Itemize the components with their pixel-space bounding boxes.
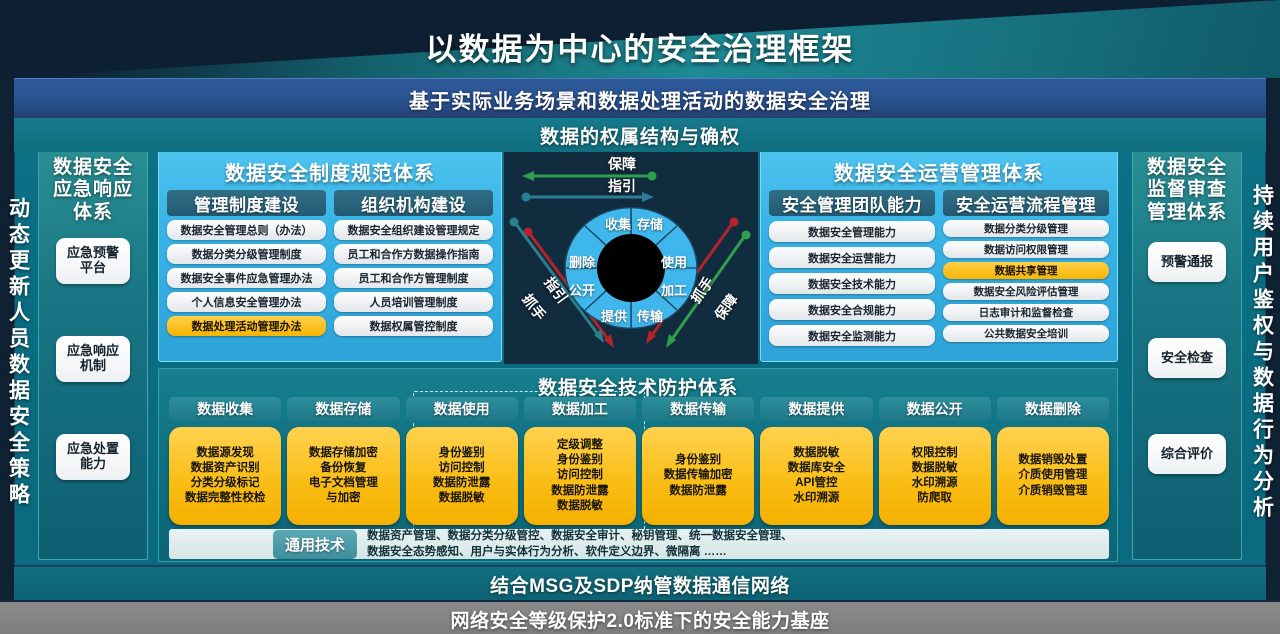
right-vertical-label: 持续用户鉴权与数据行为分析 <box>1252 184 1273 522</box>
operation-column-process: 安全运营流程管理 数据分类分级管理 数据访问权限管理 数据共享管理 数据安全风险… <box>943 190 1109 346</box>
operation-column-process-head: 安全运营流程管理 <box>943 190 1109 216</box>
wheel-segment-provide[interactable]: 提供 <box>601 306 627 325</box>
policy-column-management-head: 管理制度建设 <box>167 190 326 216</box>
tech-column-body[interactable]: 身份鉴别 访问控制 数据防泄露 数据脱敏 <box>406 427 518 525</box>
policy-item[interactable]: 数据安全组织建设管理规定 <box>334 220 493 240</box>
tech-protection-band: 数据安全技术防护体系 数据收集 数据源发现 数据资产识别 分类分级标记 数据完整… <box>158 368 1118 562</box>
tech-column-head: 数据使用 <box>406 397 518 421</box>
footer-bar-2-label: 网络安全等级保护2.0标准下的安全能力基座 <box>451 606 830 633</box>
wheel-segment-publish[interactable]: 公开 <box>569 280 595 299</box>
operation-column-team-head: 安全管理团队能力 <box>769 190 935 216</box>
footer-bar-1: 结合MSG及SDP纳管数据通信网络 <box>14 566 1266 601</box>
supervision-title: 数据安全 监督审查 管理体系 <box>1133 147 1241 224</box>
operation-system-title: 数据安全运营管理体系 <box>761 151 1117 186</box>
policy-item[interactable]: 数据分类分级管理制度 <box>167 244 326 264</box>
supervision-item-comprehensive-evaluation[interactable]: 综合评价 <box>1148 434 1226 474</box>
tech-column-use[interactable]: 数据使用 身份鉴别 访问控制 数据防泄露 数据脱敏 <box>406 397 518 525</box>
operation-item[interactable]: 数据分类分级管理 <box>943 220 1109 237</box>
operation-item[interactable]: 数据安全运营能力 <box>769 247 935 268</box>
policy-item[interactable]: 数据权属管控制度 <box>334 316 493 336</box>
tech-column-head: 数据存储 <box>287 397 399 421</box>
tech-column-head: 数据传输 <box>642 397 754 421</box>
supervision-item-security-inspection[interactable]: 安全检查 <box>1148 338 1226 378</box>
tech-column-publish[interactable]: 数据公开 权限控制 数据脱敏 水印溯源 防爬取 <box>879 397 991 525</box>
subtitle-bar-1: 基于实际业务场景和数据处理活动的数据安全治理 <box>14 78 1266 119</box>
wheel-label-top-guarantee: 保障 <box>608 154 636 174</box>
policy-column-organization: 组织机构建设 数据安全组织建设管理规定 员工和合作方数据操作指南 员工和合作方管… <box>334 190 493 336</box>
wheel-label-top-guidance: 指引 <box>608 176 636 196</box>
emergency-item-handling-capability[interactable]: 应急处置 能力 <box>56 434 130 480</box>
tech-column-body[interactable]: 定级调整 身份鉴别 访问控制 数据防泄露 数据脱敏 <box>524 427 636 525</box>
wheel-segment-collect[interactable]: 收集 <box>605 214 631 233</box>
policy-column-organization-head: 组织机构建设 <box>334 190 493 216</box>
policy-system-title: 数据安全制度规范体系 <box>159 151 501 186</box>
wheel-segment-process[interactable]: 加工 <box>661 280 687 299</box>
policy-column-management: 管理制度建设 数据安全管理总则（办法） 数据分类分级管理制度 数据安全事件应急管… <box>167 190 326 336</box>
operation-item[interactable]: 数据安全监测能力 <box>769 325 935 346</box>
tech-column-process[interactable]: 数据加工 定级调整 身份鉴别 访问控制 数据防泄露 数据脱敏 <box>524 397 636 525</box>
tech-column-provide[interactable]: 数据提供 数据脱敏 数据库安全 API管控 水印溯源 <box>760 397 872 525</box>
emergency-response-column[interactable]: 数据安全 应急响应 体系 应急预警 平台 应急响应 机制 应急处置 能力 <box>38 146 148 560</box>
policy-item[interactable]: 数据安全事件应急管理办法 <box>167 268 326 288</box>
subtitle-bar-1-label: 基于实际业务场景和数据处理活动的数据安全治理 <box>409 85 871 114</box>
tech-column-head: 数据收集 <box>169 397 281 421</box>
tech-column-delete[interactable]: 数据删除 数据销毁处置 介质使用管理 介质销毁管理 <box>997 397 1109 525</box>
operation-item[interactable]: 数据安全技术能力 <box>769 273 935 294</box>
policy-item[interactable]: 人员培训管理制度 <box>334 292 493 312</box>
operation-item[interactable]: 数据安全合规能力 <box>769 299 935 320</box>
tech-column-head: 数据加工 <box>524 397 636 421</box>
framework-diagram: 以数据为中心的安全治理框架 基于实际业务场景和数据处理活动的数据安全治理 数据的… <box>0 0 1280 634</box>
left-vertical-strip: 动态更新人员数据安全策略 <box>3 144 33 562</box>
tech-column-collect[interactable]: 数据收集 数据源发现 数据资产识别 分类分级标记 数据完整性校检 <box>169 397 281 525</box>
tech-column-body[interactable]: 权限控制 数据脱敏 水印溯源 防爬取 <box>879 427 991 525</box>
operation-item-highlighted[interactable]: 数据共享管理 <box>943 262 1109 279</box>
footer-bar-1-label: 结合MSG及SDP纳管数据通信网络 <box>490 571 790 598</box>
wheel-segment-delete[interactable]: 删除 <box>569 252 595 271</box>
wheel-hub <box>597 234 665 302</box>
operation-item[interactable]: 公共数据安全培训 <box>943 325 1109 342</box>
tech-column-store[interactable]: 数据存储 数据存储加密 备份恢复 电子文档管理 与加密 <box>287 397 399 525</box>
left-vertical-label: 动态更新人员数据安全策略 <box>8 197 29 509</box>
policy-item[interactable]: 员工和合作方数据操作指南 <box>334 244 493 264</box>
page-title: 以数据为中心的安全治理框架 <box>0 24 1280 69</box>
subtitle-bar-2-label: 数据的权属结构与确权 <box>540 122 740 149</box>
policy-system-panel[interactable]: 数据安全制度规范体系 管理制度建设 数据安全管理总则（办法） 数据分类分级管理制… <box>158 150 502 362</box>
subtitle-bar-2: 数据的权属结构与确权 <box>14 118 1266 152</box>
operation-system-panel[interactable]: 数据安全运营管理体系 安全管理团队能力 数据安全管理能力 数据安全运营能力 数据… <box>760 150 1118 362</box>
tech-column-head: 数据公开 <box>879 397 991 421</box>
operation-item[interactable]: 日志审计和监督检查 <box>943 304 1109 321</box>
supervision-item-warning-notice[interactable]: 预警通报 <box>1148 242 1226 282</box>
emergency-item-warning-platform[interactable]: 应急预警 平台 <box>56 238 130 284</box>
policy-item[interactable]: 个人信息安全管理办法 <box>167 292 326 312</box>
general-technology-row: 通用技术 数据资产管理、数据分类分级管控、数据安全审计、秘钥管理、统一数据安全管… <box>169 529 1109 559</box>
tech-column-body[interactable]: 数据脱敏 数据库安全 API管控 水印溯源 <box>760 427 872 525</box>
right-vertical-strip: 持续用户鉴权与数据行为分析 <box>1247 144 1277 562</box>
policy-item-highlighted[interactable]: 数据处理活动管理办法 <box>167 316 326 336</box>
policy-item[interactable]: 员工和合作方管理制度 <box>334 268 493 288</box>
operation-item[interactable]: 数据访问权限管理 <box>943 241 1109 258</box>
tech-column-body[interactable]: 数据存储加密 备份恢复 电子文档管理 与加密 <box>287 427 399 525</box>
emergency-response-title: 数据安全 应急响应 体系 <box>39 147 147 224</box>
tech-column-body[interactable]: 数据销毁处置 介质使用管理 介质销毁管理 <box>997 427 1109 525</box>
general-technology-text: 数据资产管理、数据分类分级管控、数据安全审计、秘钥管理、统一数据安全管理、 数据… <box>367 528 793 560</box>
supervision-column[interactable]: 数据安全 监督审查 管理体系 预警通报 安全检查 综合评价 <box>1132 146 1242 560</box>
policy-item[interactable]: 数据安全管理总则（办法） <box>167 220 326 240</box>
footer-bar-2: 网络安全等级保护2.0标准下的安全能力基座 <box>0 600 1280 634</box>
lifecycle-wheel[interactable]: 收集 存储 使用 加工 传输 提供 公开 删除 <box>561 204 701 332</box>
general-technology-tag: 通用技术 <box>273 530 357 559</box>
tech-column-body[interactable]: 数据源发现 数据资产识别 分类分级标记 数据完整性校检 <box>169 427 281 525</box>
wheel-segment-use[interactable]: 使用 <box>661 252 687 271</box>
data-lifecycle-wheel-area: 保障 指引 指引 抓手 抓手 保障 收集 存储 使用 <box>504 152 758 364</box>
emergency-item-response-mechanism[interactable]: 应急响应 机制 <box>56 336 130 382</box>
tech-column-head: 数据提供 <box>760 397 872 421</box>
wheel-segment-transmit[interactable]: 传输 <box>637 306 663 325</box>
tech-column-head: 数据删除 <box>997 397 1109 421</box>
wheel-segment-store[interactable]: 存储 <box>637 214 663 233</box>
operation-item[interactable]: 数据安全风险评估管理 <box>943 283 1109 300</box>
tech-column-body[interactable]: 身份鉴别 数据传输加密 数据防泄露 <box>642 427 754 525</box>
tech-column-transmit[interactable]: 数据传输 身份鉴别 数据传输加密 数据防泄露 <box>642 397 754 525</box>
operation-column-team: 安全管理团队能力 数据安全管理能力 数据安全运营能力 数据安全技术能力 数据安全… <box>769 190 935 346</box>
tech-protection-title: 数据安全技术防护体系 <box>159 369 1117 400</box>
tech-columns: 数据收集 数据源发现 数据资产识别 分类分级标记 数据完整性校检 数据存储 数据… <box>169 397 1109 525</box>
operation-item[interactable]: 数据安全管理能力 <box>769 221 935 242</box>
